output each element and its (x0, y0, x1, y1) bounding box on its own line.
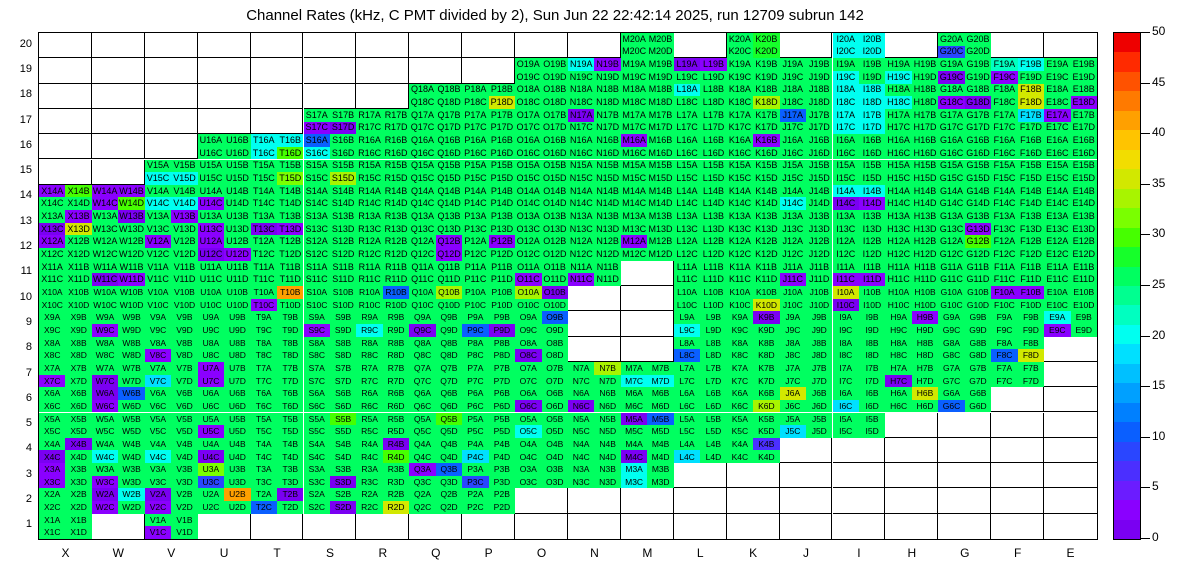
channel-cell: Q15B (436, 160, 462, 173)
channel-cell: E17B (1071, 109, 1097, 122)
channel-cell: F17B (1018, 109, 1044, 122)
y-axis-label: 10 (2, 291, 32, 303)
x-axis-label: O (515, 546, 568, 560)
channel-cell: S10D (330, 299, 356, 312)
channel-cell: U8A (198, 337, 224, 350)
channel-cell: W10C (92, 299, 118, 312)
grid-cell (674, 514, 727, 539)
colorbar-segment (1114, 325, 1140, 344)
channel-cell: L15B (700, 160, 726, 173)
grid-cell (991, 438, 1044, 463)
colorbar-segment (1114, 364, 1140, 383)
channel-cell: P12A (462, 235, 488, 248)
channel-cell: U7A (198, 362, 224, 375)
channel-cell: U4A (198, 438, 224, 451)
channel-cell: L14D (700, 197, 726, 210)
channel-cell: K11B (753, 261, 779, 274)
channel-cell: R15C (356, 172, 382, 185)
channel-cell: Q8A (409, 337, 435, 350)
channel-cell: J5A (780, 413, 806, 426)
channel-cell: S7A (304, 362, 330, 375)
channel-cell: O6A (515, 387, 541, 400)
channel-cell: S3A (304, 463, 330, 476)
channel-cell: G11A (938, 261, 964, 274)
channel-cell: G14B (965, 185, 991, 198)
grid-cell (1044, 463, 1097, 488)
channel-cell: O16B (542, 134, 568, 147)
channel-cell: V14C (145, 197, 171, 210)
channel-cell: I20D (859, 46, 885, 59)
channel-cell: S5C (304, 425, 330, 438)
channel-cell: L18A (674, 84, 700, 97)
channel-cell: X2D (65, 501, 91, 514)
grid-cell (198, 84, 251, 109)
channel-cell: F7B (1018, 362, 1044, 375)
channel-cell: K10D (753, 299, 779, 312)
channel-cell: E9D (1071, 324, 1097, 337)
channel-cell: P15D (489, 172, 515, 185)
channel-cell: T7A (251, 362, 277, 375)
channel-cell: K19C (727, 71, 753, 84)
channel-cell: R2A (356, 488, 382, 501)
channel-cell: I17D (859, 122, 885, 135)
channel-cell: N13A (568, 210, 594, 223)
channel-cell: S14D (330, 197, 356, 210)
channel-cell: K20B (753, 33, 779, 46)
channel-cell: X4D (65, 450, 91, 463)
channel-cell: V2B (171, 488, 197, 501)
grid-cell (356, 58, 409, 83)
channel-cell: P6B (489, 387, 515, 400)
channel-cell: E9C (1044, 324, 1070, 337)
channel-cell: J18B (806, 84, 832, 97)
channel-cell: I20A (833, 33, 859, 46)
channel-cell: P11A (462, 261, 488, 274)
grid-cell (621, 261, 674, 286)
channel-cell: H18B (912, 84, 938, 97)
colorbar-tick (1141, 184, 1150, 185)
channel-cell: N16A (568, 134, 594, 147)
channel-cell: L7A (674, 362, 700, 375)
channel-cell: S14A (304, 185, 330, 198)
channel-cell: O11B (542, 261, 568, 274)
channel-cell: R2B (383, 488, 409, 501)
channel-cell: K5A (727, 413, 753, 426)
channel-cell: M4C (621, 450, 647, 463)
channel-cell: H17C (885, 122, 911, 135)
channel-cell: T5C (251, 425, 277, 438)
channel-cell: J11D (806, 273, 832, 286)
channel-cell: X13B (65, 210, 91, 223)
colorbar (1113, 32, 1141, 540)
channel-cell: V8B (171, 337, 197, 350)
channel-cell: H8C (885, 349, 911, 362)
channel-cell: M18D (647, 96, 673, 109)
channel-cell: Q11C (409, 273, 435, 286)
grid-cell (409, 58, 462, 83)
colorbar-tick-label: 10 (1152, 429, 1165, 443)
channel-cell: N19D (594, 71, 620, 84)
channel-cell: T15A (251, 160, 277, 173)
channel-cell: I5B (859, 413, 885, 426)
grid-cell (885, 33, 938, 58)
channel-cell: O12D (542, 248, 568, 261)
channel-cell: O4C (515, 450, 541, 463)
channel-cell: X6D (65, 400, 91, 413)
grid-cell (92, 160, 145, 185)
channel-cell: P17C (462, 122, 488, 135)
channel-cell: R8B (383, 337, 409, 350)
channel-cell: J9D (806, 324, 832, 337)
channel-cell: K16B (753, 134, 779, 147)
colorbar-tick-label: 20 (1152, 328, 1165, 342)
channel-cell: J6D (806, 400, 832, 413)
channel-cell: P5B (489, 413, 515, 426)
channel-cell: H16B (912, 134, 938, 147)
channel-cell: I17B (859, 109, 885, 122)
channel-cell: O8B (542, 337, 568, 350)
channel-cell: R15B (383, 160, 409, 173)
channel-cell: T12A (251, 235, 277, 248)
channel-cell: H16C (885, 147, 911, 160)
channel-cell: G6B (965, 387, 991, 400)
channel-cell: E14B (1071, 185, 1097, 198)
channel-cell: K7B (753, 362, 779, 375)
channel-cell: M5B (647, 413, 673, 426)
grid-cell (568, 514, 621, 539)
channel-cell: G17C (938, 122, 964, 135)
channel-cell: M19A (621, 58, 647, 71)
channel-cell: U10D (224, 299, 250, 312)
channel-cell: S13A (304, 210, 330, 223)
channel-cell: Q10D (436, 299, 462, 312)
channel-cell: P11B (489, 261, 515, 274)
channel-cell: L16A (674, 134, 700, 147)
channel-cell: O12C (515, 248, 541, 261)
channel-cell: E17C (1044, 122, 1070, 135)
channel-cell: P8A (462, 337, 488, 350)
channel-cell: I13C (833, 223, 859, 236)
channel-cell: X7D (65, 375, 91, 388)
channel-cell: S16D (330, 147, 356, 160)
channel-cell: P2C (462, 501, 488, 514)
channel-cell: R7B (383, 362, 409, 375)
channel-cell: L4D (700, 450, 726, 463)
channel-cell: P7B (489, 362, 515, 375)
channel-cell: G19D (965, 71, 991, 84)
channel-cell: H18A (885, 84, 911, 97)
channel-cell: Q2C (409, 501, 435, 514)
channel-cell: S4A (304, 438, 330, 451)
channel-cell: Q8B (436, 337, 462, 350)
channel-cell: W8B (118, 337, 144, 350)
channel-cell: K16D (753, 147, 779, 160)
channel-cell: L13A (674, 210, 700, 223)
channel-cell: T10C (251, 299, 277, 312)
channel-cell: N5A (568, 413, 594, 426)
channel-cell: W9D (118, 324, 144, 337)
channel-cell: N3D (594, 476, 620, 489)
channel-cell: F17D (1018, 122, 1044, 135)
channel-cell: U6B (224, 387, 250, 400)
channel-cell: H11C (885, 273, 911, 286)
channel-cell: S6B (330, 387, 356, 400)
channel-cell: T6A (251, 387, 277, 400)
channel-cell: J15C (780, 172, 806, 185)
channel-cell: I19D (859, 71, 885, 84)
channel-cell: H6A (885, 387, 911, 400)
channel-cell: M3B (647, 463, 673, 476)
channel-cell: R9C (356, 324, 382, 337)
channel-cell: N15D (594, 172, 620, 185)
channel-cell: K8A (727, 337, 753, 350)
channel-cell: V5D (171, 425, 197, 438)
colorbar-segment (1114, 228, 1140, 247)
grid-cell (304, 58, 357, 83)
channel-cell: N12A (568, 235, 594, 248)
channel-cell: E16B (1071, 134, 1097, 147)
channel-cell: M13C (621, 223, 647, 236)
channel-cell: K7C (727, 375, 753, 388)
channel-cell: J12A (780, 235, 806, 248)
channel-cell: S2C (304, 501, 330, 514)
channel-cell: T11C (251, 273, 277, 286)
channel-cell: X7C (39, 375, 65, 388)
channel-cell: U2D (224, 501, 250, 514)
channel-cell: T5A (251, 413, 277, 426)
channel-cell: M5D (647, 425, 673, 438)
grid-cell (39, 58, 92, 83)
channel-cell: M13B (647, 210, 673, 223)
channel-cell: X7B (65, 362, 91, 375)
channel-cell: T12B (277, 235, 303, 248)
channel-cell: V2A (145, 488, 171, 501)
channel-cell: K4B (753, 438, 779, 451)
channel-cell: O9B (542, 311, 568, 324)
channel-cell: Q3D (436, 476, 462, 489)
channel-cell: V5A (145, 413, 171, 426)
channel-cell: G8A (938, 337, 964, 350)
channel-cell: P2B (489, 488, 515, 501)
channel-cell: H11B (912, 261, 938, 274)
channel-cell: H15D (912, 172, 938, 185)
channel-cell: U5C (198, 425, 224, 438)
channel-cell: E14A (1044, 185, 1070, 198)
channel-cell: U5B (224, 413, 250, 426)
channel-cell: Q14C (409, 197, 435, 210)
channel-cell: J7C (780, 375, 806, 388)
colorbar-segment (1114, 169, 1140, 188)
channel-cell: M13D (647, 223, 673, 236)
channel-cell: H8A (885, 337, 911, 350)
channel-cell: P18B (489, 84, 515, 97)
channel-cell: P9B (489, 311, 515, 324)
channel-cell: S4C (304, 450, 330, 463)
channel-cell: G12C (938, 248, 964, 261)
channel-cell: W5B (118, 413, 144, 426)
channel-cell: G8D (965, 349, 991, 362)
channel-cell: L5A (674, 413, 700, 426)
channel-cell: T7D (277, 375, 303, 388)
channel-cell: W7D (118, 375, 144, 388)
grid-cell (780, 514, 833, 539)
grid-cell (1044, 337, 1097, 362)
channel-cell: K19D (753, 71, 779, 84)
channel-cell: O3C (515, 476, 541, 489)
y-axis-label: 7 (2, 367, 32, 379)
channel-cell: P17B (489, 109, 515, 122)
grid-cell (568, 33, 621, 58)
channel-cell: L12D (700, 248, 726, 261)
colorbar-tick (1141, 336, 1150, 337)
channel-cell: G19A (938, 58, 964, 71)
colorbar-tick-label: 15 (1152, 378, 1165, 392)
channel-cell: X7A (39, 362, 65, 375)
channel-cell: L18C (674, 96, 700, 109)
grid-cell (621, 514, 674, 539)
channel-cell: U11C (198, 273, 224, 286)
channel-cell: Q12B (436, 235, 462, 248)
channel-cell: V14B (171, 185, 197, 198)
grid-cell (991, 488, 1044, 513)
channel-cell: P17A (462, 109, 488, 122)
channel-cell: W9C (92, 324, 118, 337)
grid-cell (885, 514, 938, 539)
channel-cell: S16C (304, 147, 330, 160)
channel-cell: S2A (304, 488, 330, 501)
channel-cell: M12A (621, 235, 647, 248)
channel-cell: S9C (304, 324, 330, 337)
channel-cell: N16B (594, 134, 620, 147)
channel-cell: L17B (700, 109, 726, 122)
channel-cell: V1C (145, 526, 171, 539)
channel-cell: U2A (198, 488, 224, 501)
channel-cell: R4A (356, 438, 382, 451)
channel-cell: G18A (938, 84, 964, 97)
channel-cell: N11B (594, 261, 620, 274)
channel-cell: N17D (594, 122, 620, 135)
channel-cell: O12A (515, 235, 541, 248)
channel-cell: S17C (304, 122, 330, 135)
channel-cell: H17D (912, 122, 938, 135)
channel-cell: H19A (885, 58, 911, 71)
channel-cell: J17B (806, 109, 832, 122)
channel-cell: X11C (39, 273, 65, 286)
channel-cell: L18B (700, 84, 726, 97)
channel-cell: V7C (145, 375, 171, 388)
channel-cell: Q17A (409, 109, 435, 122)
channel-cell: V14A (145, 185, 171, 198)
channel-cell: L8A (674, 337, 700, 350)
channel-cell: S12B (330, 235, 356, 248)
channel-cell: F8B (1018, 337, 1044, 350)
channel-cell: G8C (938, 349, 964, 362)
channel-cell: R13A (356, 210, 382, 223)
channel-cell: K4C (727, 450, 753, 463)
channel-cell: G11D (965, 273, 991, 286)
channel-cell: M14B (647, 185, 673, 198)
channel-cell: M20B (647, 33, 673, 46)
channel-cell: Q2B (436, 488, 462, 501)
channel-cell: M15B (647, 160, 673, 173)
channel-cell: O18B (542, 84, 568, 97)
channel-cell: Q4B (436, 438, 462, 451)
channel-cell: N15C (568, 172, 594, 185)
grid-cell (833, 514, 886, 539)
channel-cell: N19C (568, 71, 594, 84)
channel-cell: M6A (621, 387, 647, 400)
channel-cell: T8D (277, 349, 303, 362)
grid-cell (356, 84, 409, 109)
channel-cell: I15C (833, 172, 859, 185)
channel-cell: F10B (1018, 286, 1044, 299)
channel-cell: L12B (700, 235, 726, 248)
channel-cell: V11B (171, 261, 197, 274)
channel-cell: U10C (198, 299, 224, 312)
channel-cell: F18B (1018, 84, 1044, 97)
heatmap-grid: M20AM20BM20CM20DK20AK20BK20CK20DI20AI20B… (39, 33, 1097, 539)
channel-cell: F7A (991, 362, 1017, 375)
channel-cell: R5A (356, 413, 382, 426)
channel-cell: R6A (356, 387, 382, 400)
channel-cell: S8D (330, 349, 356, 362)
channel-cell: S7D (330, 375, 356, 388)
channel-cell: H13A (885, 210, 911, 223)
channel-cell: Q14A (409, 185, 435, 198)
channel-cell: S7C (304, 375, 330, 388)
channel-cell: O8D (542, 349, 568, 362)
channel-cell: R11C (356, 273, 382, 286)
channel-cell: S11A (304, 261, 330, 274)
channel-cell: H18C (885, 96, 911, 109)
channel-cell: H18D (912, 96, 938, 109)
channel-cell: O5D (542, 425, 568, 438)
channel-cell: I8B (859, 337, 885, 350)
y-axis-label: 2 (2, 493, 32, 505)
grid-cell (145, 109, 198, 134)
channel-cell: T10A (251, 286, 277, 299)
channel-cell: O7B (542, 362, 568, 375)
channel-cell: I9B (859, 311, 885, 324)
channel-cell: N7A (568, 362, 594, 375)
channel-cell: G15C (938, 172, 964, 185)
channel-cell: I11C (833, 273, 859, 286)
channel-cell: F7C (991, 375, 1017, 388)
channel-cell: P10A (462, 286, 488, 299)
channel-cell: V11C (145, 273, 171, 286)
channel-cell: H7A (885, 362, 911, 375)
grid-cell (991, 413, 1044, 438)
channel-cell: R6D (383, 400, 409, 413)
channel-cell: L18D (700, 96, 726, 109)
channel-cell: O3B (542, 463, 568, 476)
channel-cell: R12C (356, 248, 382, 261)
channel-cell: U11A (198, 261, 224, 274)
channel-cell: L12A (674, 235, 700, 248)
channel-cell: M17B (647, 109, 673, 122)
grid-cell (674, 463, 727, 488)
y-axis-label: 3 (2, 468, 32, 480)
channel-cell: U15B (224, 160, 250, 173)
channel-cell: X9C (39, 324, 65, 337)
channel-cell: G11B (965, 261, 991, 274)
channel-cell: H13D (912, 223, 938, 236)
grid-cell (251, 514, 304, 539)
channel-cell: J15A (780, 160, 806, 173)
channel-cell: P8D (489, 349, 515, 362)
channel-cell: R16C (356, 147, 382, 160)
channel-cell: S11C (304, 273, 330, 286)
